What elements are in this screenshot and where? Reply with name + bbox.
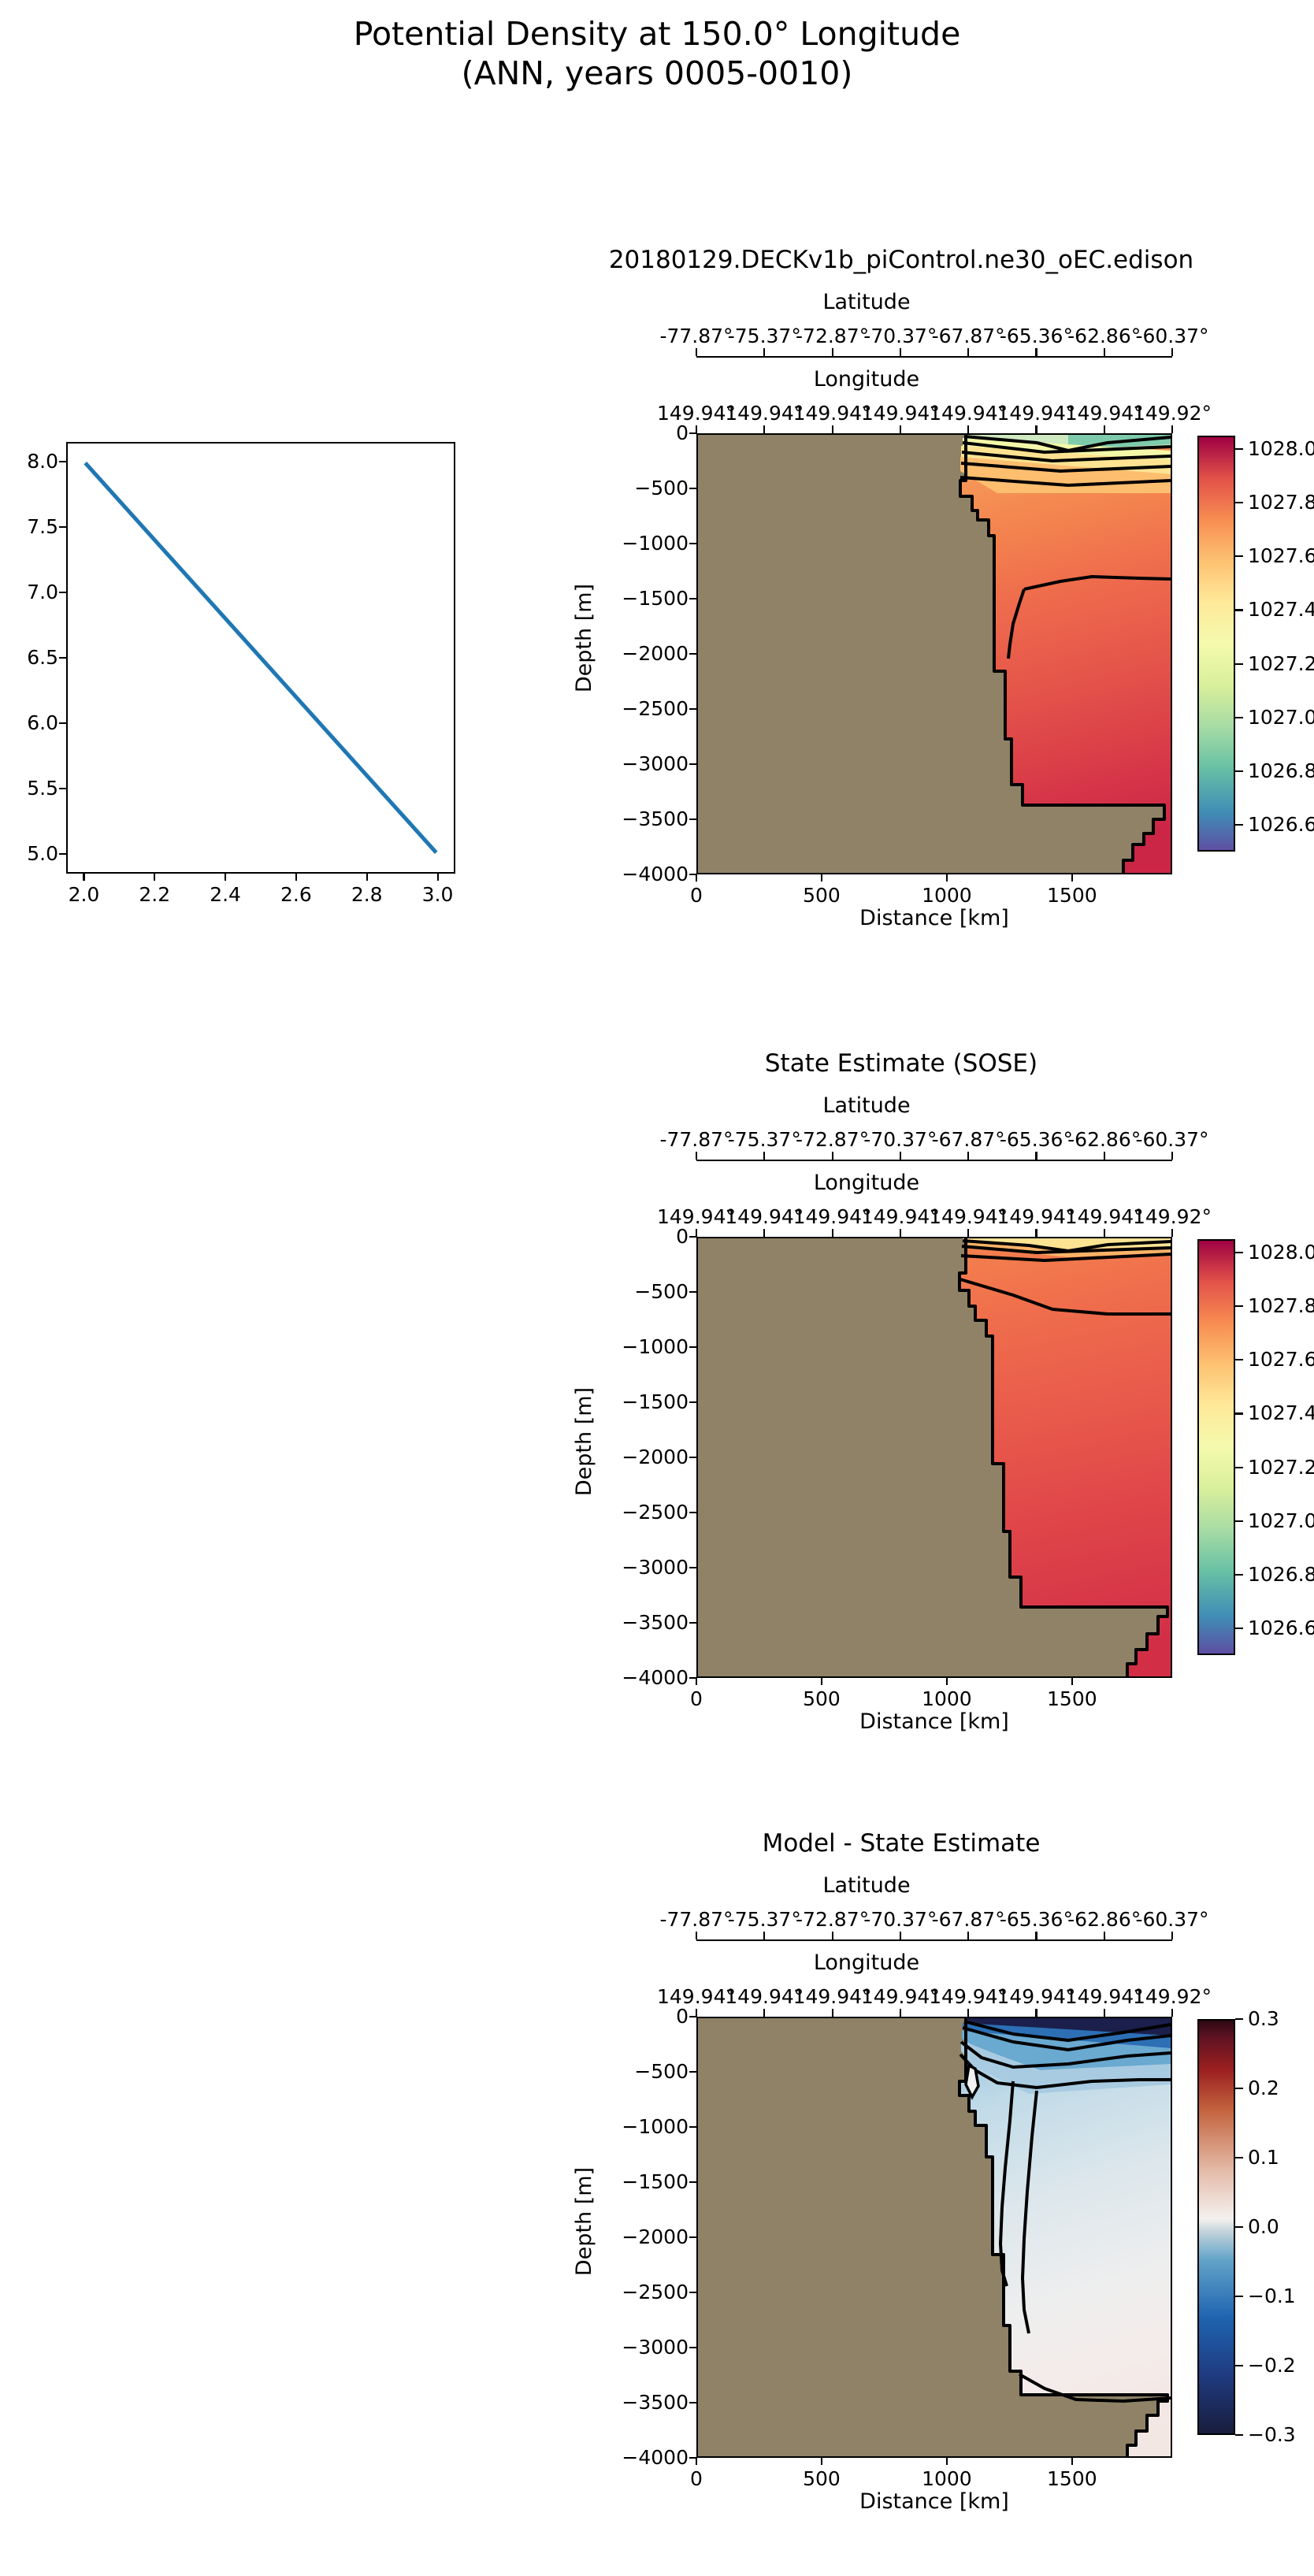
diff-latitude-rail-tick <box>900 1932 901 1939</box>
diff-longitude-rail-tick <box>1171 2009 1173 2017</box>
sose-longitude-rail-tick <box>1035 1229 1037 1237</box>
line-plot-x-tick-mark <box>366 874 368 881</box>
sose-longitude-rail-tick <box>763 1229 765 1237</box>
diff-depth-tick-mark <box>689 2347 696 2348</box>
model-latitude-rail-tick <box>1171 348 1173 356</box>
diff-colorbar-tick-label: −0.2 <box>1248 2354 1314 2377</box>
model-depth-tick-mark <box>689 763 696 765</box>
sose-depth-tick-label: −500 <box>567 1280 689 1303</box>
sose-latitude-rail-tick <box>832 1152 833 1160</box>
diff-distance-axis-label: Distance [km] <box>698 2489 1171 2514</box>
diff-longitude-rail-tick <box>832 2009 833 2017</box>
sose-longitude-rail-tick <box>967 1229 969 1237</box>
model-latitude-rail-tick <box>763 348 765 356</box>
sose-latitude-rail-tick <box>696 1152 697 1160</box>
line-plot-y-tick-mark <box>59 592 66 593</box>
line-plot-y-tick-mark <box>59 853 66 855</box>
figure-canvas: Potential Density at 150.0° Longitude (A… <box>0 0 1314 2576</box>
sose-depth-tick-mark <box>689 1567 696 1568</box>
sose-latitude-rail-tick <box>1035 1152 1037 1160</box>
model-colorbar-tick-label: 1027.4 <box>1248 598 1314 621</box>
difference-panel: Model - State Estimate Latitude -77.87°-… <box>488 1583 1314 2560</box>
model-longitude-rail-tick <box>1171 425 1173 433</box>
model-depth-axis-label: Depth [m] <box>572 520 596 756</box>
model-colorbar-tick-mark <box>1235 717 1243 718</box>
diff-colorbar-tick-label: 0.2 <box>1248 2077 1314 2099</box>
model-latitude-rail-tick <box>1104 348 1105 356</box>
difference-section-field <box>698 2018 1171 2456</box>
difference-panel-title: Model - State Estimate <box>457 1829 1314 1858</box>
sose-colorbar-tick-label: 1026.8 <box>1248 1563 1314 1586</box>
model-longitude-rail-tick <box>1104 425 1105 433</box>
line-plot-x-tick-mark <box>295 874 297 881</box>
line-plot-series <box>68 444 454 872</box>
sose-colorbar-tick-label: 1027.8 <box>1248 1294 1314 1317</box>
sose-colorbar-tick-mark <box>1235 1359 1243 1360</box>
diff-colorbar-tick-mark <box>1235 2088 1243 2089</box>
diff-colorbar-tick-label: −0.3 <box>1248 2423 1314 2446</box>
diff-depth-tick-label: −3500 <box>567 2391 689 2414</box>
model-colorbar-tick-mark <box>1235 609 1243 611</box>
line-plot-y-tick-label: 6.0 <box>8 711 58 734</box>
model-depth-tick-label: −500 <box>567 477 689 499</box>
model-colorbar-tick-label: 1027.2 <box>1248 652 1314 675</box>
sose-depth-tick-mark <box>689 1457 696 1458</box>
line-plot-y-tick-label: 6.5 <box>8 646 58 669</box>
model-colorbar-tick-label: 1027.8 <box>1248 491 1314 514</box>
difference-colorbar <box>1197 2019 1235 2435</box>
diff-latitude-tick-label: -60.37° <box>1117 1908 1227 1931</box>
sose-depth-tick-mark <box>689 1291 696 1293</box>
sose-colorbar-tick-mark <box>1235 1520 1243 1522</box>
diff-latitude-rail-tick <box>967 1932 969 1939</box>
sose-colorbar-tick-label: 1027.4 <box>1248 1401 1314 1424</box>
diff-latitude-axis-label: Latitude <box>630 1873 1103 1898</box>
diff-distance-tick-label: 500 <box>782 2467 861 2490</box>
model-longitude-rail-tick <box>763 425 765 433</box>
sose-colorbar-tick-label: 1027.0 <box>1248 1509 1314 1532</box>
diff-depth-tick-label: −4000 <box>567 2446 689 2469</box>
diff-colorbar-tick-label: −0.1 <box>1248 2285 1314 2307</box>
sose-colorbar-tick-label: 1027.6 <box>1248 1348 1314 1371</box>
sose-latitude-rail-tick <box>1104 1152 1105 1160</box>
diff-distance-tick-label: 0 <box>657 2467 736 2490</box>
sose-longitude-rail-tick <box>832 1229 833 1237</box>
diff-longitude-tick-label: 149.92° <box>1117 1985 1227 2008</box>
model-longitude-rail-tick <box>832 425 833 433</box>
line-plot-y-tick-mark <box>59 788 66 789</box>
diff-longitude-rail-tick <box>1035 2009 1037 2017</box>
model-longitude-tick-label: 149.92° <box>1117 402 1227 425</box>
model-latitude-rail-tick <box>832 348 833 356</box>
model-depth-tick-mark <box>689 598 696 599</box>
model-depth-tick-label: 0 <box>567 421 689 444</box>
diff-colorbar-tick-mark <box>1235 2296 1243 2297</box>
diff-colorbar-tick-mark <box>1235 2226 1243 2228</box>
model-depth-tick-mark <box>689 432 696 434</box>
line-plot-x-tick-mark <box>154 874 155 881</box>
sose-longitude-axis-label: Longitude <box>630 1171 1103 1195</box>
line-plot-y-tick-mark <box>59 526 66 528</box>
model-longitude-rail-tick <box>1035 425 1037 433</box>
diff-colorbar-tick-mark <box>1235 2018 1243 2020</box>
diff-depth-tick-label: 0 <box>567 2005 689 2028</box>
sose-latitude-rail-tick <box>763 1152 765 1160</box>
model-depth-tick-mark <box>689 488 696 489</box>
model-latitude-rail-tick <box>967 348 969 356</box>
sose-colorbar-tick-mark <box>1235 1467 1243 1468</box>
diff-latitude-rail <box>696 1939 1172 1941</box>
sose-colorbar-tick-mark <box>1235 1574 1243 1576</box>
model-latitude-rail-tick <box>696 348 697 356</box>
diff-depth-tick-mark <box>689 2292 696 2293</box>
model-depth-tick-mark <box>689 543 696 544</box>
diff-depth-tick-mark <box>689 2402 696 2403</box>
diff-longitude-rail-tick <box>967 2009 969 2017</box>
sose-colorbar-tick-mark <box>1235 1305 1243 1307</box>
sose-longitude-tick-label: 149.92° <box>1117 1205 1227 1228</box>
sose-latitude-axis-label: Latitude <box>630 1093 1103 1118</box>
model-longitude-axis-label: Longitude <box>630 367 1103 392</box>
diff-latitude-rail-tick <box>1035 1932 1037 1939</box>
model-colorbar-tick-label: 1028.0 <box>1248 437 1314 460</box>
sose-depth-tick-mark <box>689 1512 696 1513</box>
line-plot-y-tick-label: 7.5 <box>8 515 58 538</box>
state-estimate-panel-title: State Estimate (SOSE) <box>457 1049 1314 1078</box>
line-plot-x-tick-label: 2.0 <box>52 883 115 906</box>
line-plot-panel: 5.05.56.06.57.07.58.0 2.02.22.42.62.83.0 <box>0 0 488 945</box>
model-longitude-rail-tick <box>967 425 969 433</box>
sose-depth-axis-label: Depth [m] <box>572 1323 596 1560</box>
diff-longitude-rail-tick <box>1104 2009 1105 2017</box>
line-plot-axes <box>66 442 455 874</box>
sose-depth-tick-mark <box>689 1236 696 1238</box>
model-depth-tick-mark <box>689 708 696 710</box>
diff-latitude-rail-tick <box>832 1932 833 1939</box>
diff-latitude-rail-tick <box>763 1932 765 1939</box>
diff-colorbar-tick-mark <box>1235 2434 1243 2436</box>
line-plot-x-tick-label: 2.6 <box>265 883 328 906</box>
model-colorbar-tick-mark <box>1235 502 1243 503</box>
sose-colorbar-tick-label: 1027.2 <box>1248 1456 1314 1479</box>
line-plot-x-tick-label: 2.4 <box>194 883 257 906</box>
model-latitude-axis-label: Latitude <box>630 290 1103 314</box>
sose-latitude-rail-tick <box>1171 1152 1173 1160</box>
line-plot-x-tick-label: 2.2 <box>123 883 186 906</box>
diff-depth-tick-mark <box>689 2071 696 2073</box>
line-plot-x-tick-mark <box>225 874 226 881</box>
diff-depth-tick-label: −500 <box>567 2060 689 2083</box>
model-latitude-tick-label: -60.37° <box>1117 325 1227 347</box>
line-plot-x-tick-label: 2.8 <box>336 883 399 906</box>
sose-colorbar-tick-label: 1028.0 <box>1248 1241 1314 1264</box>
sose-depth-tick-mark <box>689 1346 696 1348</box>
sose-longitude-rail-tick <box>900 1229 901 1237</box>
model-depth-tick-mark <box>689 653 696 655</box>
diff-latitude-rail-tick <box>696 1932 697 1939</box>
sose-colorbar-tick-mark <box>1235 1252 1243 1253</box>
model-colorbar <box>1197 436 1235 852</box>
line-plot-y-tick-label: 5.0 <box>8 842 58 865</box>
difference-plot <box>696 2017 1172 2458</box>
diff-colorbar-tick-mark <box>1235 2365 1243 2366</box>
sose-latitude-rail <box>696 1160 1172 1161</box>
diff-distance-tick-mark <box>1071 2458 1073 2465</box>
model-colorbar-tick-label: 1027.0 <box>1248 706 1314 729</box>
diff-colorbar-tick-mark <box>1235 2157 1243 2158</box>
sose-latitude-rail-tick <box>900 1152 901 1160</box>
model-colorbar-tick-label: 1026.8 <box>1248 759 1314 782</box>
line-plot-y-tick-mark <box>59 657 66 659</box>
diff-latitude-rail-tick <box>1171 1932 1173 1939</box>
model-colorbar-tick-mark <box>1235 663 1243 665</box>
sose-depth-tick-label: 0 <box>567 1225 689 1248</box>
line-plot-x-tick-mark <box>83 874 84 881</box>
line-plot-x-tick-label: 3.0 <box>406 883 470 906</box>
diff-distance-tick-mark <box>946 2458 948 2465</box>
model-latitude-rail-tick <box>1035 348 1037 356</box>
diff-depth-axis-label: Depth [m] <box>572 2103 596 2340</box>
diff-depth-tick-mark <box>689 2016 696 2017</box>
diff-colorbar-tick-label: 0.0 <box>1248 2215 1314 2238</box>
diff-depth-tick-mark <box>689 2126 696 2128</box>
sose-latitude-tick-label: -60.37° <box>1117 1128 1227 1151</box>
diff-colorbar-tick-label: 0.1 <box>1248 2146 1314 2169</box>
model-colorbar-tick-label: 1027.6 <box>1248 544 1314 567</box>
diff-distance-tick-mark <box>696 2458 697 2465</box>
line-plot-y-tick-mark <box>59 461 66 462</box>
diff-distance-tick-label: 1000 <box>908 2467 986 2490</box>
diff-distance-tick-label: 1500 <box>1033 2467 1112 2490</box>
sose-colorbar-tick-mark <box>1235 1412 1243 1414</box>
sose-longitude-rail-tick <box>1104 1229 1105 1237</box>
line-plot-x-tick-mark <box>437 874 439 881</box>
model-panel-title: 20180129.DECKv1b_piControl.ne30_oEC.edis… <box>457 246 1314 274</box>
diff-longitude-rail-tick <box>763 2009 765 2017</box>
line-plot-y-tick-label: 7.0 <box>8 581 58 603</box>
diff-depth-tick-mark <box>689 2181 696 2183</box>
sose-depth-tick-mark <box>689 1401 696 1403</box>
diff-distance-tick-mark <box>821 2458 822 2465</box>
diff-latitude-rail-tick <box>1104 1932 1105 1939</box>
diff-colorbar-tick-label: 0.3 <box>1248 2007 1314 2030</box>
diff-depth-tick-mark <box>689 2236 696 2238</box>
line-plot-y-tick-mark <box>59 722 66 724</box>
model-longitude-rail-tick <box>900 425 901 433</box>
sose-longitude-rail-tick <box>1171 1229 1173 1237</box>
model-colorbar-tick-mark <box>1235 448 1243 450</box>
diff-longitude-rail-tick <box>900 2009 901 2017</box>
model-latitude-rail <box>696 356 1172 358</box>
model-colorbar-tick-mark <box>1235 770 1243 772</box>
sose-latitude-rail-tick <box>967 1152 969 1160</box>
model-colorbar-tick-mark <box>1235 555 1243 557</box>
model-latitude-rail-tick <box>900 348 901 356</box>
line-plot-y-tick-label: 5.5 <box>8 777 58 800</box>
diff-longitude-axis-label: Longitude <box>630 1951 1103 1975</box>
line-plot-y-tick-label: 8.0 <box>8 450 58 473</box>
